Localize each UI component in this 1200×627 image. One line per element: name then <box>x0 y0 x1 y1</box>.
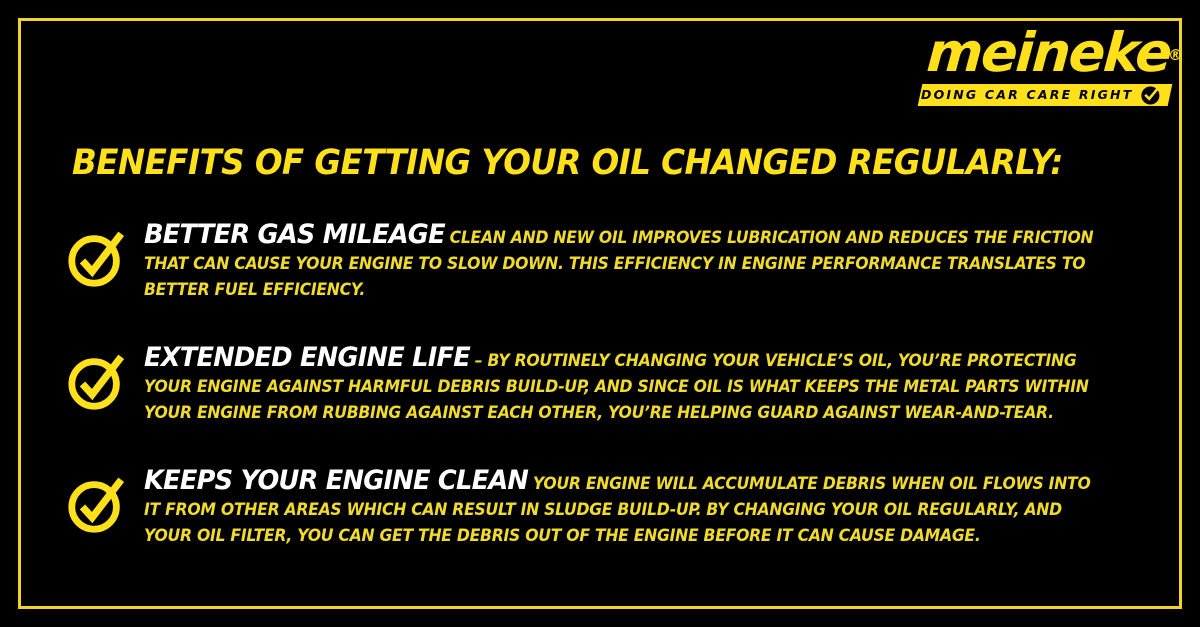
meineke-logo: meineke ® DOING CAR CARE RIGHT <box>920 26 1170 106</box>
check-circle-icon <box>66 228 128 290</box>
list-item-text: BETTER GAS MILEAGECLEAN AND NEW OIL IMPR… <box>144 222 1109 303</box>
check-circle-icon <box>66 474 128 536</box>
list-item: BETTER GAS MILEAGECLEAN AND NEW OIL IMPR… <box>66 222 1160 303</box>
page-title: BENEFITS OF GETTING YOUR OIL CHANGED REG… <box>72 143 1063 183</box>
list-item-title: EXTENDED ENGINE LIFE <box>144 342 475 373</box>
list-item-text: EXTENDED ENGINE LIFE– BY ROUTINELY CHANG… <box>144 345 1109 426</box>
check-circle-icon <box>66 351 128 413</box>
list-item: KEEPS YOUR ENGINE CLEANYOUR ENGINE WILL … <box>66 468 1160 549</box>
brand-wordmark-text: meineke <box>925 21 1172 84</box>
brand-wordmark: meineke ® <box>925 26 1172 80</box>
benefits-list: BETTER GAS MILEAGECLEAN AND NEW OIL IMPR… <box>66 222 1160 549</box>
check-circle-icon <box>1141 86 1160 105</box>
registered-trademark-icon: ® <box>1166 28 1185 82</box>
brand-tagline-bar: DOING CAR CARE RIGHT <box>918 84 1173 106</box>
list-item-title: KEEPS YOUR ENGINE CLEAN <box>144 465 533 496</box>
brand-tagline-text: DOING CAR CARE RIGHT <box>921 88 1133 102</box>
list-item-text: KEEPS YOUR ENGINE CLEANYOUR ENGINE WILL … <box>144 468 1109 549</box>
list-item-title: BETTER GAS MILEAGE <box>144 219 450 250</box>
promo-banner: meineke ® DOING CAR CARE RIGHT BENEFITS … <box>0 0 1200 627</box>
list-item: EXTENDED ENGINE LIFE– BY ROUTINELY CHANG… <box>66 345 1160 426</box>
